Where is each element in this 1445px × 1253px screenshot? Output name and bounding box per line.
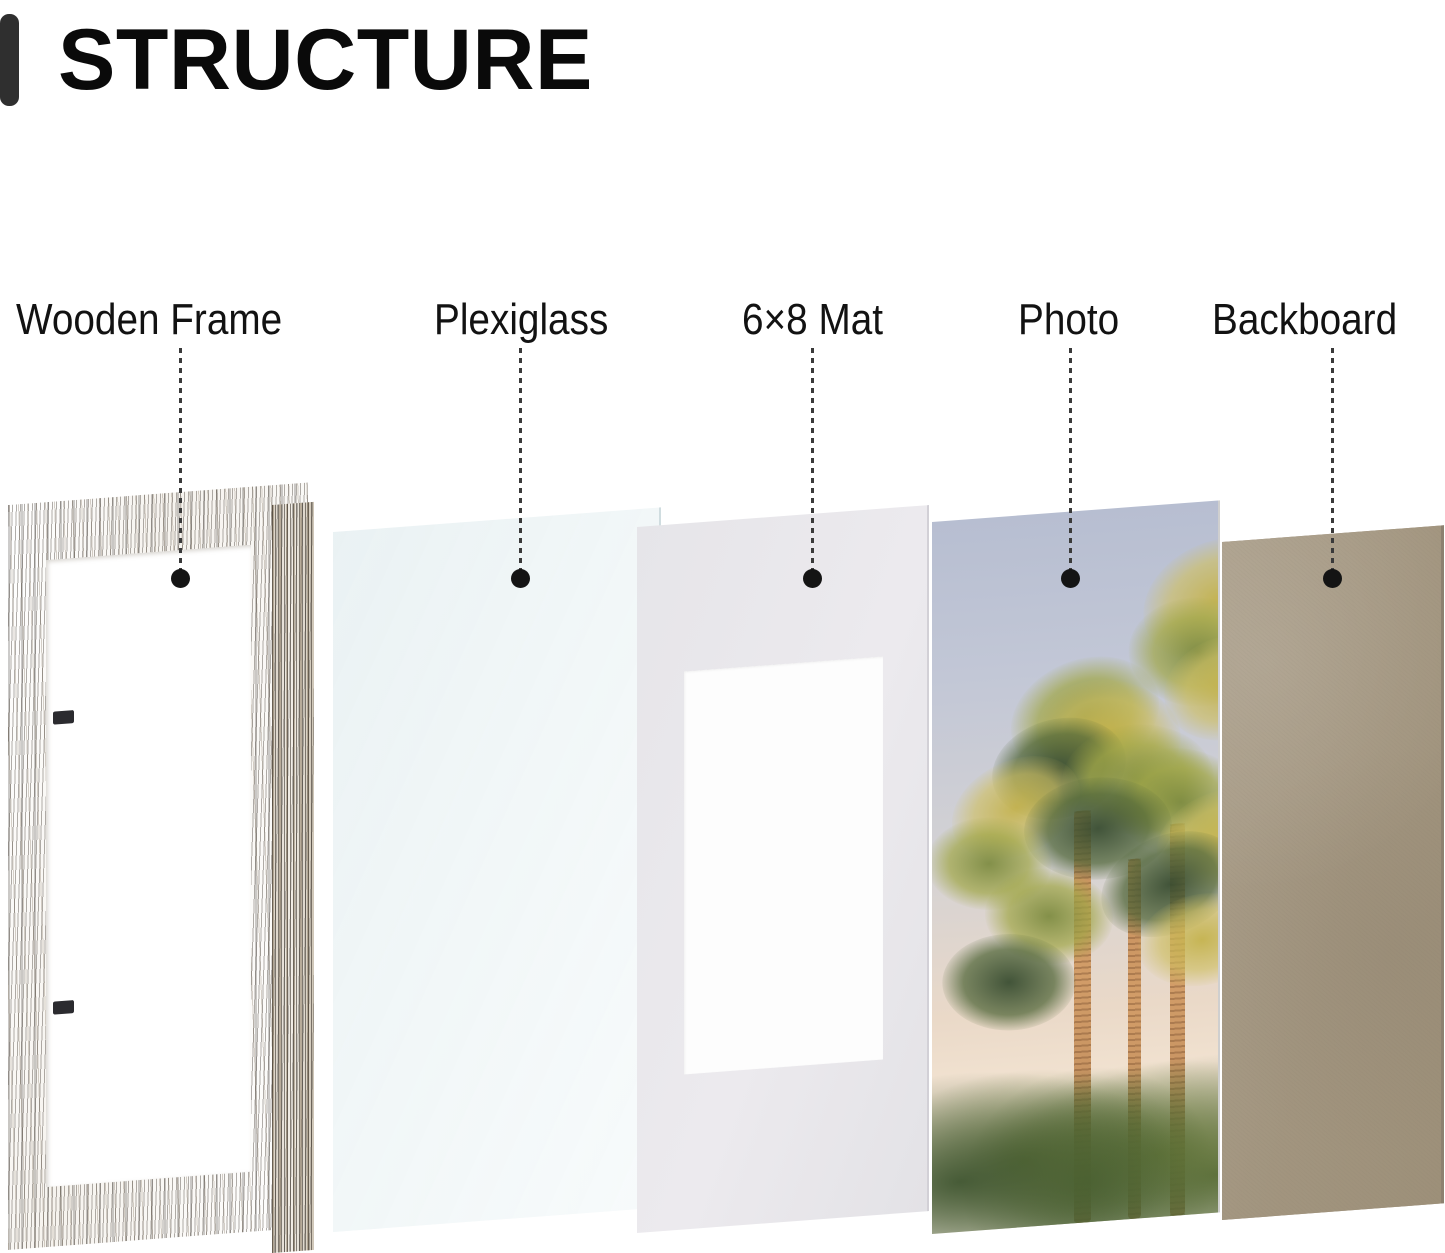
leader-line-backboard: [1331, 348, 1334, 574]
layer-photo[interactable]: [932, 500, 1220, 1234]
layer-mat[interactable]: [637, 505, 929, 1233]
layer-plexiglass[interactable]: [333, 507, 661, 1232]
leader-dot-backboard: [1323, 569, 1342, 588]
layer-label-mat: 6×8 Mat: [742, 296, 883, 344]
mat-window-opening: [684, 657, 883, 1075]
palm-understory-foliage: [932, 1021, 1220, 1234]
layer-wooden-frame[interactable]: [8, 482, 308, 1250]
leader-line-mat: [811, 348, 814, 574]
layer-backboard[interactable]: [1222, 525, 1444, 1220]
frame-clip-icon: [53, 1000, 74, 1015]
frame-opening: [46, 545, 251, 1187]
leader-dot-photo: [1061, 569, 1080, 588]
leader-line-wooden-frame: [179, 348, 182, 574]
leader-line-plexiglass: [519, 348, 522, 574]
layer-label-photo: Photo: [1018, 296, 1119, 344]
frame-clip-icon: [53, 710, 74, 725]
layer-label-wooden-frame: Wooden Frame: [16, 296, 282, 344]
leader-dot-mat: [803, 569, 822, 588]
exploded-layer-stack: [0, 0, 1445, 1253]
layer-label-backboard: Backboard: [1212, 296, 1397, 344]
leader-line-photo: [1069, 348, 1072, 574]
layer-wooden-frame-side-profile: [272, 502, 314, 1253]
leader-dot-plexiglass: [511, 569, 530, 588]
leader-dot-wooden-frame: [171, 569, 190, 588]
layer-label-plexiglass: Plexiglass: [434, 296, 608, 344]
